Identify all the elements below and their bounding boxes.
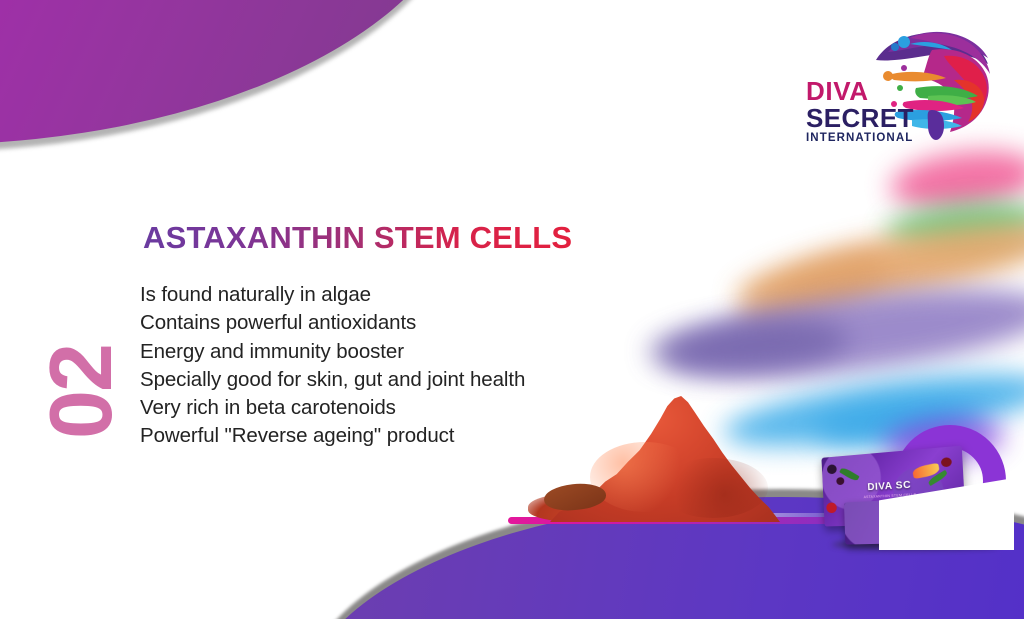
- astaxanthin-powder-mound: [498, 388, 848, 528]
- list-item: Is found naturally in algae: [140, 281, 660, 309]
- berry-icon: [826, 502, 837, 513]
- logo-line-diva: DIVA: [806, 78, 914, 105]
- watermark-ribbon-green: [884, 197, 1024, 255]
- top-left-swoosh-shadow: [0, 0, 481, 167]
- powder-shadow: [658, 458, 768, 518]
- berry-icon: [893, 532, 903, 541]
- logo-wordmark: DIVA SECRET INTERNATIONAL: [806, 78, 914, 144]
- berry-icon: [941, 457, 952, 467]
- watermark-ribbon-orange-2: [731, 240, 897, 344]
- leaf-icon: [958, 518, 979, 534]
- watermark-ribbon-orange: [731, 205, 1024, 327]
- slide-canvas: DIVA SECRET INTERNATIONAL 02 ASTAXANTHIN…: [0, 0, 1024, 619]
- list-item: Contains powerful antioxidants: [140, 309, 660, 337]
- watermark-ribbon-purple: [661, 273, 1024, 394]
- product-box-front: DIVA SC: [844, 495, 995, 544]
- top-left-purple-swoosh: [0, 0, 481, 160]
- watermark-ribbon-purple-2: [647, 313, 850, 379]
- list-item: Energy and immunity booster: [140, 338, 660, 366]
- product-packshot: DIVA SC ASTAXANTHIN STEM CELLS DIVA SC: [806, 452, 1006, 562]
- brand-logo: DIVA SECRET INTERNATIONAL: [800, 22, 998, 144]
- logo-line-international: INTERNATIONAL: [806, 132, 914, 144]
- logo-line-secret: SECRET: [806, 105, 914, 132]
- page-title: ASTAXANTHIN STEM CELLS: [143, 220, 572, 256]
- slide-number-value: 02: [37, 345, 125, 439]
- watermark-ribbon-pink: [887, 143, 1024, 217]
- berry-icon: [827, 464, 837, 474]
